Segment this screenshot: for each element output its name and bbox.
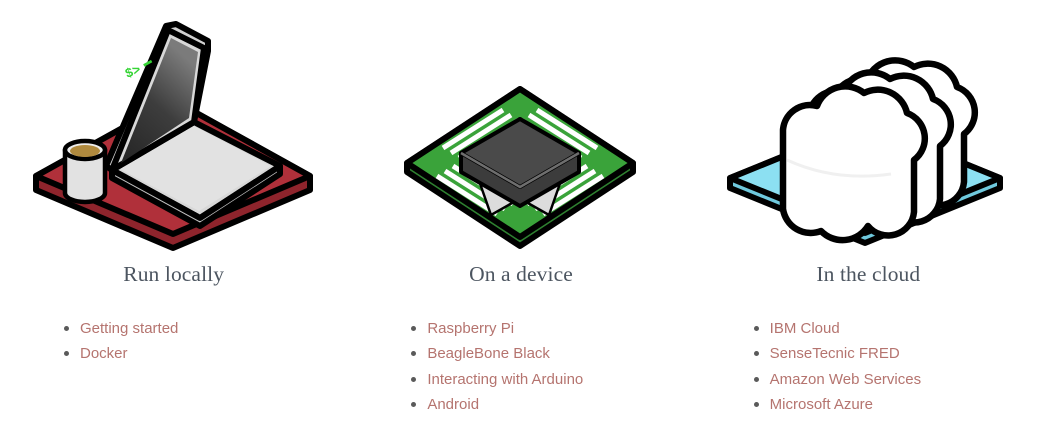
bullet-icon <box>411 351 416 356</box>
list-item: Android <box>347 392 694 417</box>
bullet-icon <box>411 377 416 382</box>
laptop-on-desk-illustration: $> <box>0 0 347 262</box>
list-item: IBM Cloud <box>695 316 1042 341</box>
column-title-in-the-cloud: In the cloud <box>695 262 1042 286</box>
bullet-icon <box>754 377 759 382</box>
deploy-column-in-the-cloud: In the cloud IBM Cloud SenseTecnic FRED … <box>695 0 1042 431</box>
bullet-icon <box>64 326 69 331</box>
deploy-column-run-locally: $> Run locally Getting started Docker <box>0 0 347 431</box>
list-item: SenseTecnic FRED <box>695 341 1042 366</box>
link-getting-started[interactable]: Getting started <box>80 320 178 337</box>
link-amazon-web-services[interactable]: Amazon Web Services <box>770 371 921 388</box>
link-microsoft-azure[interactable]: Microsoft Azure <box>770 396 873 413</box>
bullet-icon <box>411 402 416 407</box>
link-list-on-a-device: Raspberry Pi BeagleBone Black Interactin… <box>347 316 694 417</box>
bullet-icon <box>754 326 759 331</box>
coffee-mug-icon <box>65 141 105 202</box>
link-interacting-with-arduino[interactable]: Interacting with Arduino <box>427 371 583 388</box>
deployment-options-grid: $> Run locally Getting started Docker <box>0 0 1042 431</box>
circuit-board-chip-illustration <box>347 0 694 262</box>
link-android[interactable]: Android <box>427 396 479 413</box>
bullet-icon <box>64 351 69 356</box>
list-item: Raspberry Pi <box>347 316 694 341</box>
list-item: Getting started <box>0 316 347 341</box>
link-beaglebone-black[interactable]: BeagleBone Black <box>427 345 550 362</box>
list-item: Docker <box>0 341 347 366</box>
list-item: BeagleBone Black <box>347 341 694 366</box>
link-raspberry-pi[interactable]: Raspberry Pi <box>427 320 514 337</box>
list-item: Microsoft Azure <box>695 392 1042 417</box>
bullet-icon <box>411 326 416 331</box>
column-title-run-locally: Run locally <box>0 262 347 286</box>
deploy-column-on-a-device: On a device Raspberry Pi BeagleBone Blac… <box>347 0 694 431</box>
bullet-icon <box>754 402 759 407</box>
link-list-in-the-cloud: IBM Cloud SenseTecnic FRED Amazon Web Se… <box>695 316 1042 417</box>
list-item: Interacting with Arduino <box>347 367 694 392</box>
list-item: Amazon Web Services <box>695 367 1042 392</box>
column-title-on-a-device: On a device <box>347 262 694 286</box>
link-docker[interactable]: Docker <box>80 345 128 362</box>
link-sensetecnic-fred[interactable]: SenseTecnic FRED <box>770 345 900 362</box>
bullet-icon <box>754 351 759 356</box>
cloud-platform-illustration <box>695 0 1042 262</box>
link-ibm-cloud[interactable]: IBM Cloud <box>770 320 840 337</box>
cloud-icon-front <box>783 86 925 240</box>
link-list-run-locally: Getting started Docker <box>0 316 347 367</box>
